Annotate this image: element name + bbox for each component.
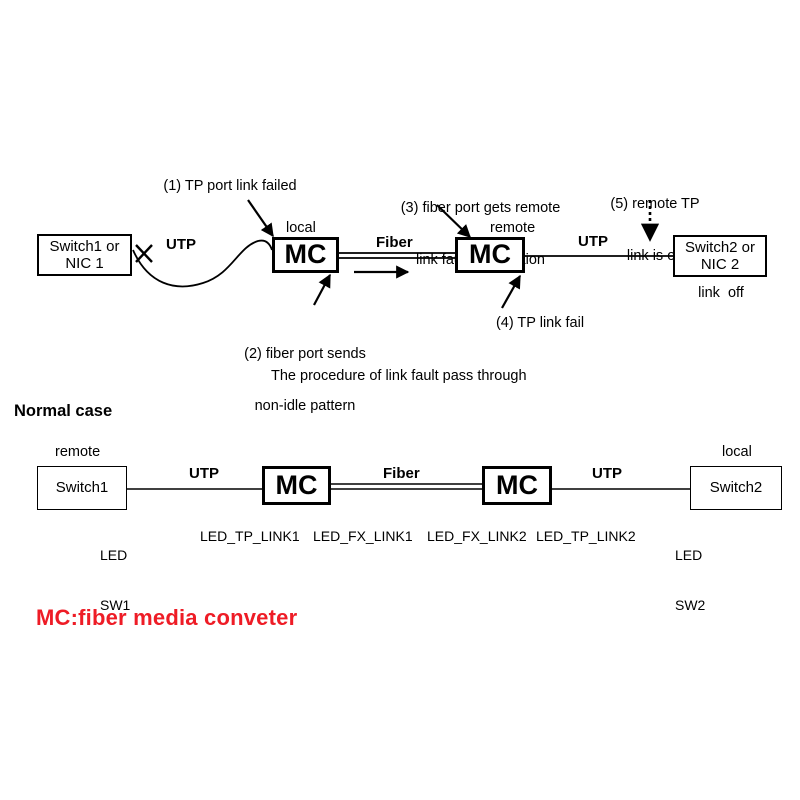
fault-node-mc-local[interactable]: MC [272, 237, 339, 273]
led-label-fx-link1: LED_FX_LINK1 [313, 528, 413, 545]
normal-case-title: Normal case [14, 402, 112, 421]
link-fault-x-marker [136, 245, 152, 262]
normal-switch1-caption: remote [55, 444, 100, 461]
annotation-3-line1: (3) fiber port gets remote [383, 200, 578, 217]
led-label-tp-link1: LED_TP_LINK1 [200, 528, 300, 545]
led-sw2-line1: LED [675, 547, 705, 564]
annotation-5-label: (5) remote TP link is off [600, 162, 710, 299]
normal-mc1-label: MC [276, 470, 318, 501]
fault-link-label-utp-left: UTP [166, 236, 196, 254]
normal-switch2-label: Switch2 [710, 479, 763, 496]
normal-switch1-label: Switch1 [56, 479, 109, 496]
annotation-2-line1: (2) fiber port sends [225, 346, 385, 363]
led-sw2-line2: SW2 [675, 597, 705, 614]
led-label-tp-link2: LED_TP_LINK2 [536, 528, 636, 545]
normal-node-mc2[interactable]: MC [482, 466, 552, 505]
fault-switch2-line2: NIC 2 [685, 256, 755, 273]
annotation-5-line1: (5) remote TP [600, 196, 710, 213]
annotation-2-arrow [314, 275, 330, 305]
fault-link-label-utp-right: UTP [578, 233, 608, 251]
fault-node-mc-remote[interactable]: MC [455, 237, 525, 273]
normal-node-switch1[interactable]: Switch1 [37, 466, 127, 510]
fault-node-switch1[interactable]: Switch1 or NIC 1 [37, 234, 132, 276]
normal-link-label-fiber: Fiber [383, 465, 420, 483]
normal-link-label-utp1: UTP [189, 465, 219, 483]
fault-mc-local-label: MC [285, 239, 327, 270]
fault-link-label-fiber: Fiber [376, 234, 413, 252]
annotation-2-line2: non-idle pattern [225, 398, 385, 415]
diagram-canvas: (1) TP port link failed (2) fiber port s… [0, 0, 800, 800]
fault-switch2-line1: Switch2 or [685, 239, 755, 256]
led-sw1-line1: LED [100, 547, 130, 564]
fault-node-switch2[interactable]: Switch2 or NIC 2 [673, 235, 767, 277]
legend-note-mc: MC:fiber media conveter [36, 605, 297, 631]
normal-node-mc1[interactable]: MC [262, 466, 331, 505]
annotation-1-arrow [248, 200, 273, 236]
fault-mc-remote-label: MC [469, 239, 511, 270]
fault-mc-local-caption: local [286, 220, 316, 237]
annotation-1-label: (1) TP port link failed [140, 178, 320, 195]
diagram-vector-layer [0, 0, 800, 800]
led-label-fx-link2: LED_FX_LINK2 [427, 528, 527, 545]
utp-cable-left [133, 241, 272, 287]
fault-switch2-status: link off [681, 285, 761, 302]
led-label-sw2: LED SW2 [675, 514, 705, 646]
fault-mc-remote-caption: remote [490, 220, 535, 237]
normal-link-label-utp2: UTP [592, 465, 622, 483]
normal-switch2-caption: local [722, 444, 752, 461]
normal-fiber-link [331, 484, 482, 489]
fault-switch1-line1: Switch1 or [49, 238, 119, 255]
figure-caption: The procedure of link fault pass through [271, 368, 527, 385]
fault-switch1-line2: NIC 1 [49, 255, 119, 272]
normal-mc2-label: MC [496, 470, 538, 501]
annotation-4-label: (4) TP link fail [470, 315, 610, 332]
normal-node-switch2[interactable]: Switch2 [690, 466, 782, 510]
